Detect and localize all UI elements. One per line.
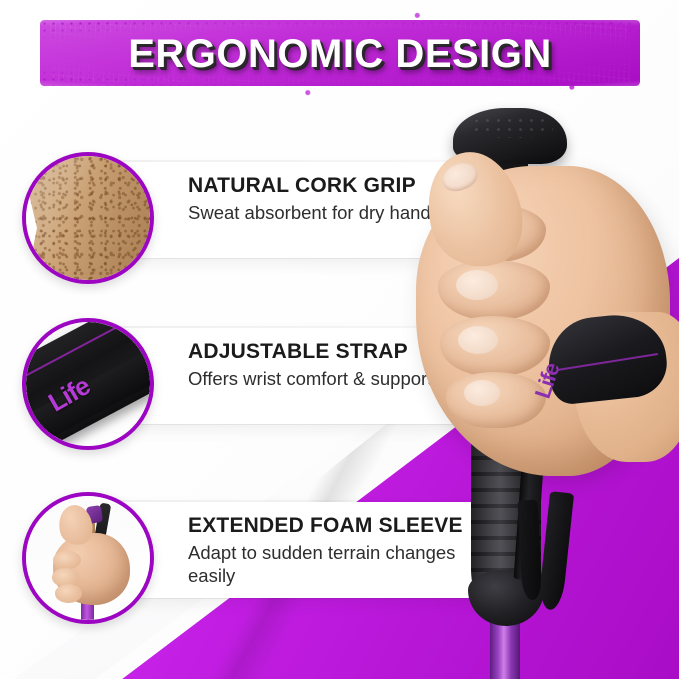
wrist-strap-tail [538, 491, 574, 611]
cork-highlight [26, 156, 150, 280]
page-title: ERGONOMIC DESIGN [18, 8, 662, 100]
pole-cap-texture-dots [471, 116, 553, 138]
thumb-knuckle [53, 551, 80, 570]
fingernail [456, 270, 498, 300]
product-feature-infographic: ERGONOMIC DESIGN NATURAL CORK GRIP Sweat… [0, 0, 679, 679]
feature-thumbnail-foam-sleeve [22, 492, 154, 624]
product-photo: Life [398, 100, 679, 679]
thumbnail-image-cork [26, 156, 150, 280]
thumbnail-image-strap: Life [26, 322, 150, 446]
fingernail [458, 326, 498, 354]
feature-thumbnail-cork-grip [22, 152, 154, 284]
header-banner: ERGONOMIC DESIGN [18, 8, 662, 100]
thumb-knuckle [55, 584, 82, 603]
feature-thumbnail-strap: Life [22, 318, 154, 450]
fingernail [464, 380, 500, 406]
thumbnail-image-hand-grip [26, 496, 150, 620]
